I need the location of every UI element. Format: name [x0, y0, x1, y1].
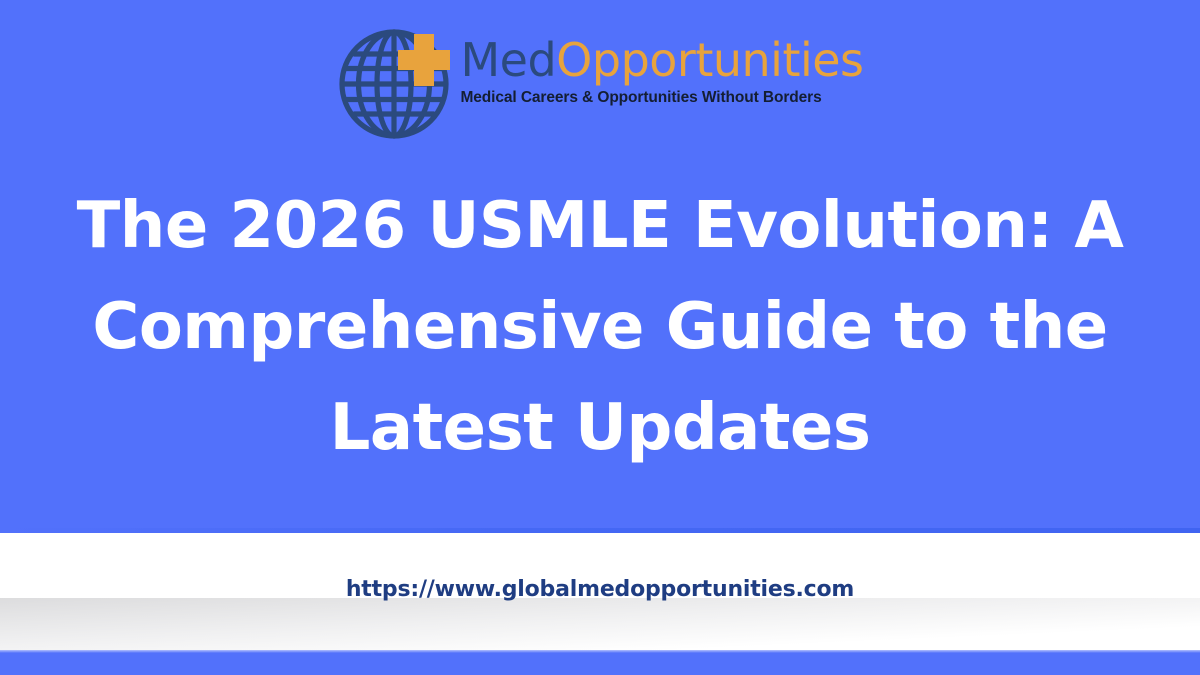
brand-tagline: Medical Careers & Opportunities Without …	[460, 89, 821, 107]
globe-wireframe-icon	[336, 22, 456, 142]
wordmark-opportunities: Opportunities	[556, 33, 863, 87]
wordmark-med: Med	[460, 33, 556, 87]
hero-panel: MedOpportunities Medical Careers & Oppor…	[0, 0, 1200, 533]
brand-logo-lockup[interactable]: MedOpportunities Medical Careers & Oppor…	[0, 20, 1200, 142]
website-url[interactable]: https://www.globalmedopportunities.com	[0, 577, 1200, 602]
bottom-accent-strip	[0, 650, 1200, 675]
url-band: https://www.globalmedopportunities.com	[0, 533, 1200, 650]
page-title: The 2026 USMLE Evolution: A Comprehensiv…	[70, 176, 1130, 479]
brand-text-block: MedOpportunities Medical Careers & Oppor…	[460, 20, 863, 107]
brand-wordmark: MedOpportunities	[460, 37, 863, 83]
social-card-slide: MedOpportunities Medical Careers & Oppor…	[0, 0, 1200, 675]
band-shadow	[0, 598, 1200, 650]
strip-highlight	[0, 650, 1200, 653]
